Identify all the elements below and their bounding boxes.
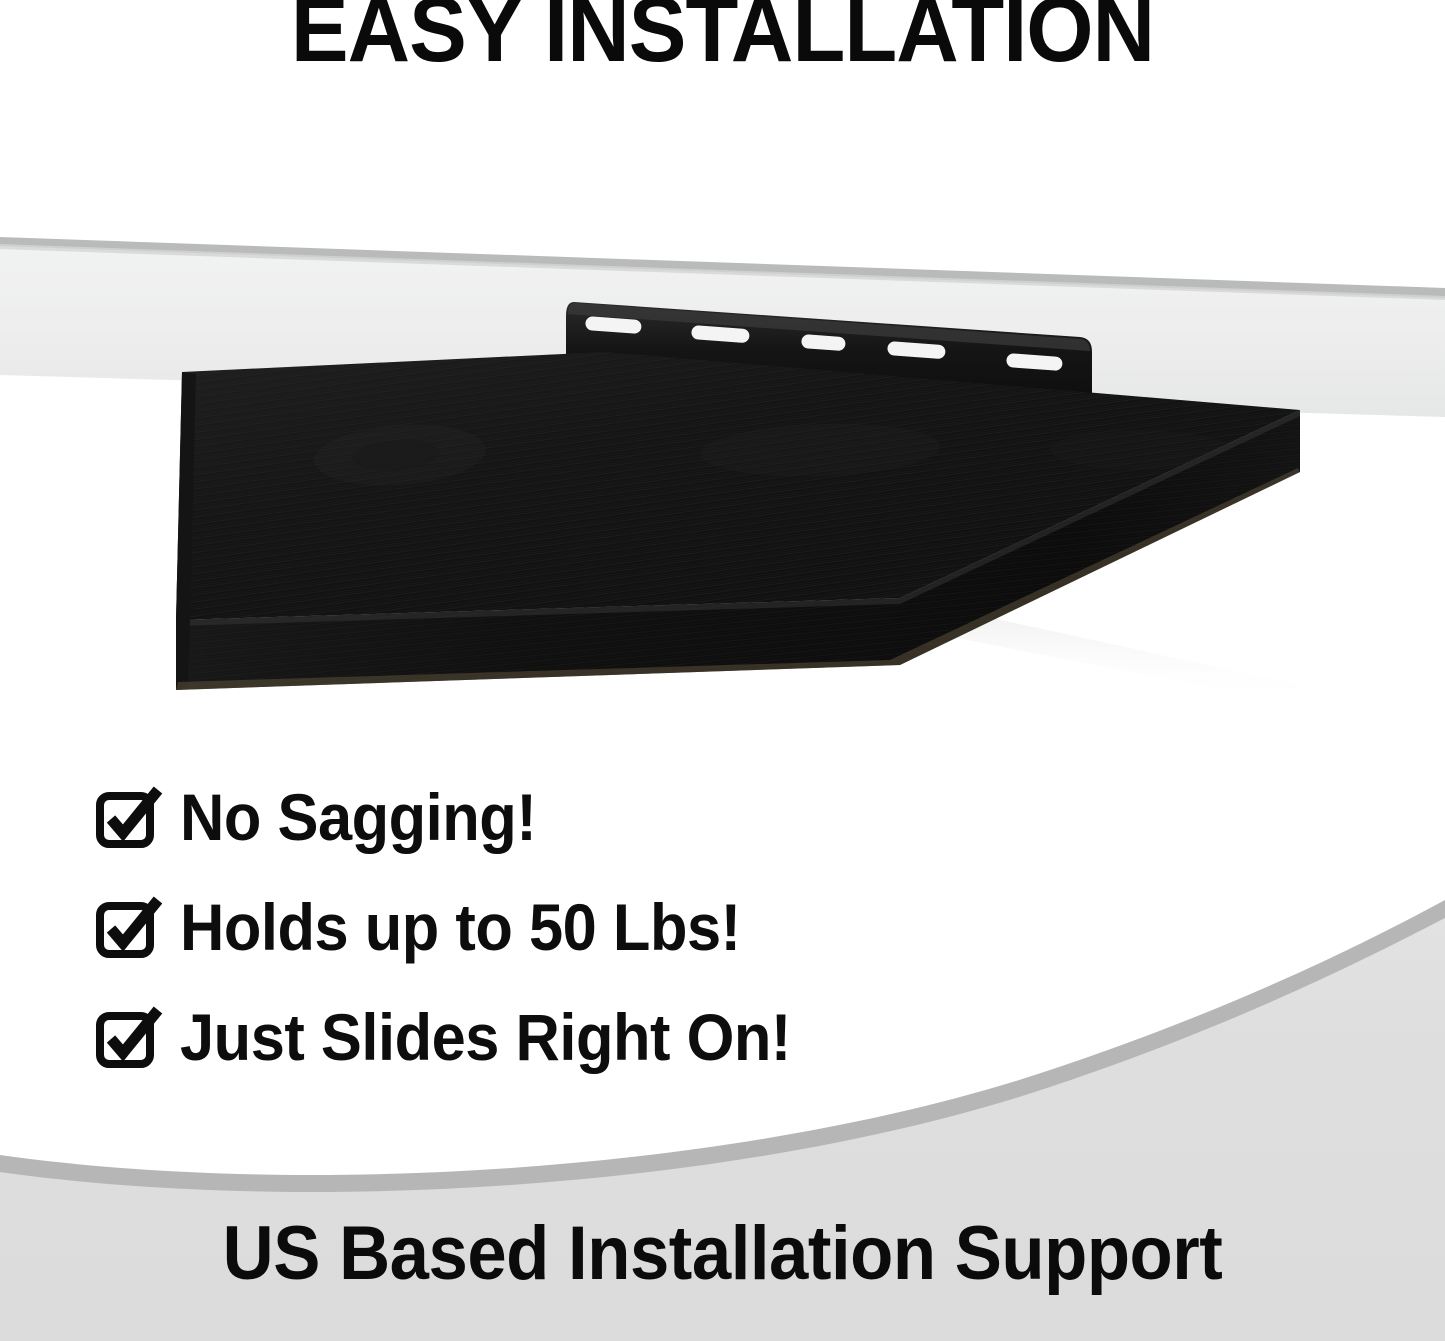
list-item-label: Just Slides Right On!	[180, 1004, 791, 1070]
list-item-label: No Sagging!	[180, 784, 536, 850]
checkbox-checked-icon	[96, 786, 170, 848]
list-item-label: Holds up to 50 Lbs!	[180, 894, 741, 960]
checkbox-checked-icon	[96, 896, 170, 958]
shelf-installation-illustration	[0, 120, 1445, 760]
list-item: No Sagging!	[96, 762, 996, 872]
list-item: Just Slides Right On!	[96, 982, 996, 1092]
feature-bullet-list: No Sagging! Holds up to 50 Lbs! Just Sli…	[96, 762, 996, 1092]
list-item: Holds up to 50 Lbs!	[96, 872, 996, 982]
footer-title: US Based Installation Support	[51, 1216, 1395, 1292]
product-feature-graphic: EASY INSTALLATION	[0, 0, 1445, 1341]
checkbox-checked-icon	[96, 1006, 170, 1068]
hero-product-image	[0, 120, 1445, 760]
floating-shelf-board	[176, 352, 1300, 705]
page-title: EASY INSTALLATION	[43, 0, 1401, 76]
